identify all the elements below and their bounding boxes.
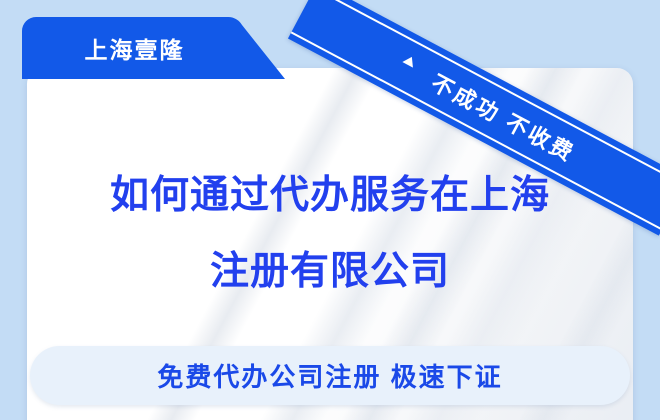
cta-banner[interactable]: 免费代办公司注册 极速下证 (30, 346, 630, 405)
headline-line-2: 注册有限公司 (27, 234, 633, 310)
promo-poster: 如何通过代办服务在上海 注册有限公司 免费代办公司注册 极速下证 上海壹隆 不成… (0, 0, 660, 420)
cta-banner-label: 免费代办公司注册 极速下证 (157, 357, 502, 394)
brand-tab[interactable]: 上海壹隆 (22, 17, 285, 79)
headline: 如何通过代办服务在上海 注册有限公司 (27, 158, 633, 310)
brand-tab-label: 上海壹隆 (22, 17, 247, 79)
triangle-up-icon (402, 54, 417, 68)
